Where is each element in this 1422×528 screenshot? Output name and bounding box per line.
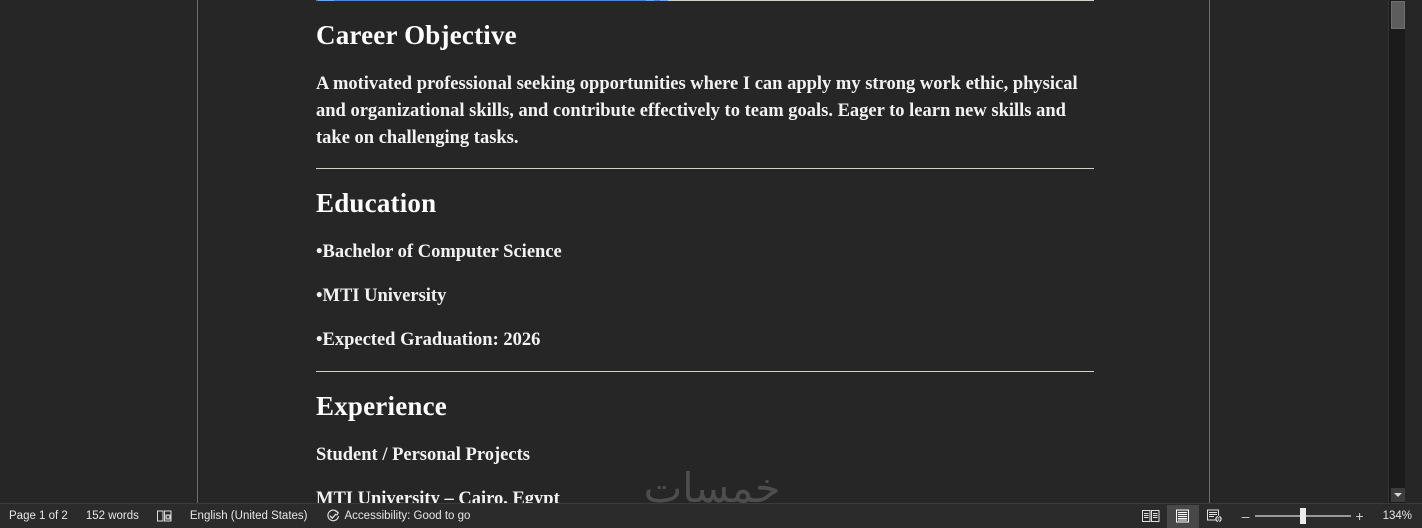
word-document-window: Career Objective A motivated professiona… bbox=[0, 0, 1422, 528]
selected-text-highlight[interactable] bbox=[316, 0, 668, 1]
status-bar-right: – + 134% bbox=[1135, 504, 1422, 528]
zoom-in-button[interactable]: + bbox=[1351, 508, 1369, 524]
zoom-level-button[interactable]: 134% bbox=[1375, 510, 1422, 522]
web-layout-icon bbox=[1207, 509, 1223, 523]
language-label: English (United States) bbox=[190, 510, 308, 522]
status-bar: Page 1 of 2 152 words English (United St… bbox=[0, 503, 1422, 528]
zoom-slider[interactable] bbox=[1255, 508, 1351, 524]
accessibility-icon bbox=[326, 509, 340, 523]
zoom-slider-thumb[interactable] bbox=[1300, 508, 1306, 524]
language-indicator[interactable]: English (United States) bbox=[181, 504, 317, 528]
page-indicator-label: Page 1 of 2 bbox=[9, 510, 68, 522]
accessibility-checker[interactable]: Accessibility: Good to go bbox=[317, 504, 480, 528]
proofing-errors-glyph bbox=[157, 510, 172, 523]
career-objective-paragraph: A motivated professional seeking opportu… bbox=[316, 71, 1094, 151]
education-bullet-1: •Bachelor of Computer Science bbox=[316, 239, 1094, 266]
view-button-print-layout[interactable] bbox=[1167, 505, 1199, 528]
status-bar-left: Page 1 of 2 152 words English (United St… bbox=[0, 504, 479, 528]
education-bullet-3: •Expected Graduation: 2026 bbox=[316, 327, 1094, 354]
read-mode-icon bbox=[1142, 509, 1160, 523]
view-button-web-layout[interactable] bbox=[1199, 505, 1231, 528]
word-count-label: 152 words bbox=[86, 510, 139, 522]
accessibility-label: Accessibility: Good to go bbox=[345, 510, 471, 522]
education-bullet-3-text: Expected Graduation: 2026 bbox=[322, 330, 540, 350]
education-bullet-1-text: Bachelor of Computer Science bbox=[322, 242, 561, 262]
zoom-control[interactable]: – + bbox=[1231, 504, 1375, 528]
section-heading-education: Education bbox=[316, 190, 1094, 217]
section-heading-experience: Experience bbox=[316, 393, 1094, 420]
print-layout-icon bbox=[1175, 509, 1190, 523]
document-page[interactable]: Career Objective A motivated professiona… bbox=[197, 0, 1210, 503]
watermark-khamsat: خمسات bbox=[612, 466, 812, 503]
education-bullet-2-text: MTI University bbox=[322, 286, 446, 306]
page-content[interactable]: Career Objective A motivated professiona… bbox=[316, 0, 1094, 503]
page-indicator[interactable]: Page 1 of 2 bbox=[0, 504, 77, 528]
education-bullet-2: •MTI University bbox=[316, 283, 1094, 310]
section-heading-career-objective: Career Objective bbox=[316, 22, 1094, 49]
scroll-down-arrow-icon[interactable] bbox=[1391, 488, 1405, 502]
proofing-errors-icon[interactable] bbox=[148, 504, 181, 528]
document-canvas[interactable]: Career Objective A motivated professiona… bbox=[0, 0, 1405, 503]
word-count[interactable]: 152 words bbox=[77, 504, 148, 528]
scrollbar-thumb[interactable] bbox=[1391, 1, 1405, 29]
zoom-out-button[interactable]: – bbox=[1237, 508, 1255, 524]
vertical-scrollbar[interactable] bbox=[1388, 0, 1405, 503]
view-button-read-mode[interactable] bbox=[1135, 505, 1167, 528]
